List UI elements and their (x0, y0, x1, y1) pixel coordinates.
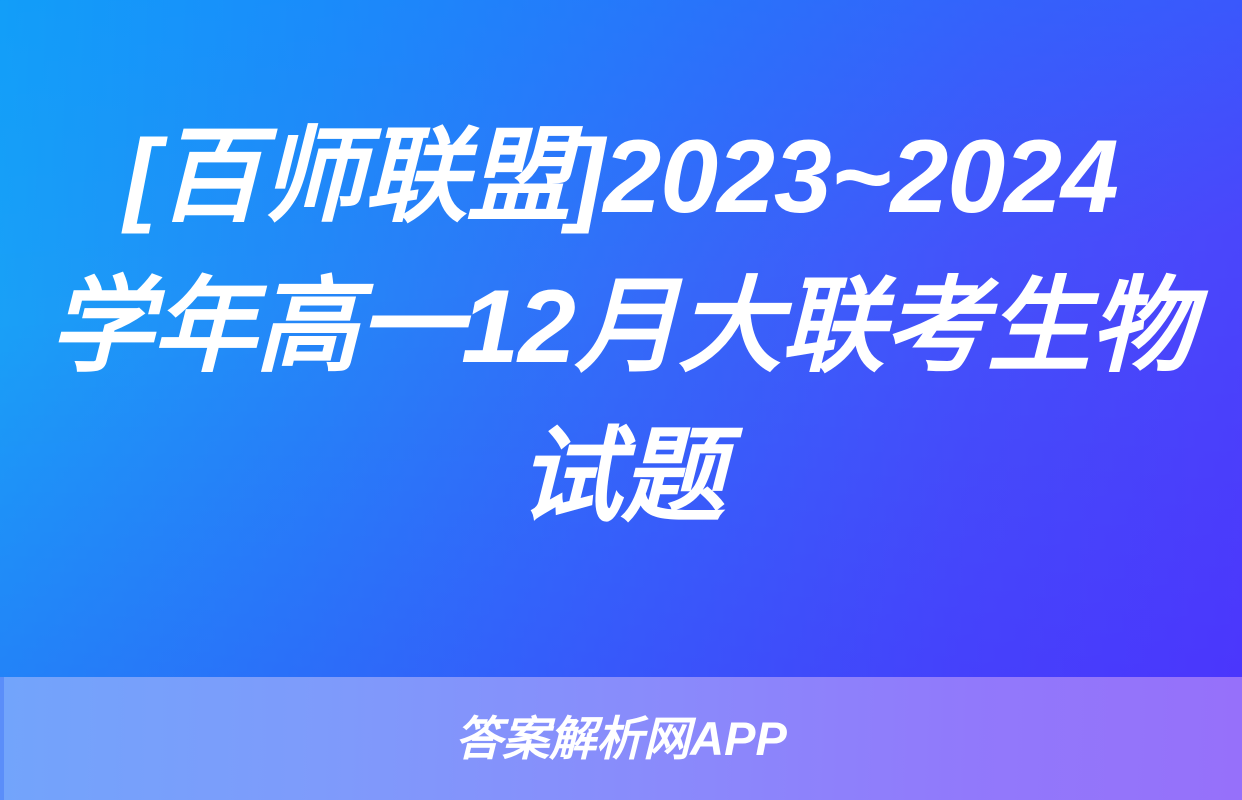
title-line-1: [百师联盟]2023~2024 (46, 102, 1196, 252)
title-line-2: 学年高一12月大联考生物 (46, 252, 1196, 402)
footer-watermark-text: 答案解析网APP (455, 711, 787, 767)
exam-title-card: [百师联盟]2023~2024 学年高一12月大联考生物 试题 答案解析网APP (0, 0, 1242, 800)
footer-watermark-band: 答案解析网APP (0, 677, 1242, 800)
title-line-3: 试题 (46, 402, 1196, 552)
title-block: [百师联盟]2023~2024 学年高一12月大联考生物 试题 (0, 0, 1242, 677)
